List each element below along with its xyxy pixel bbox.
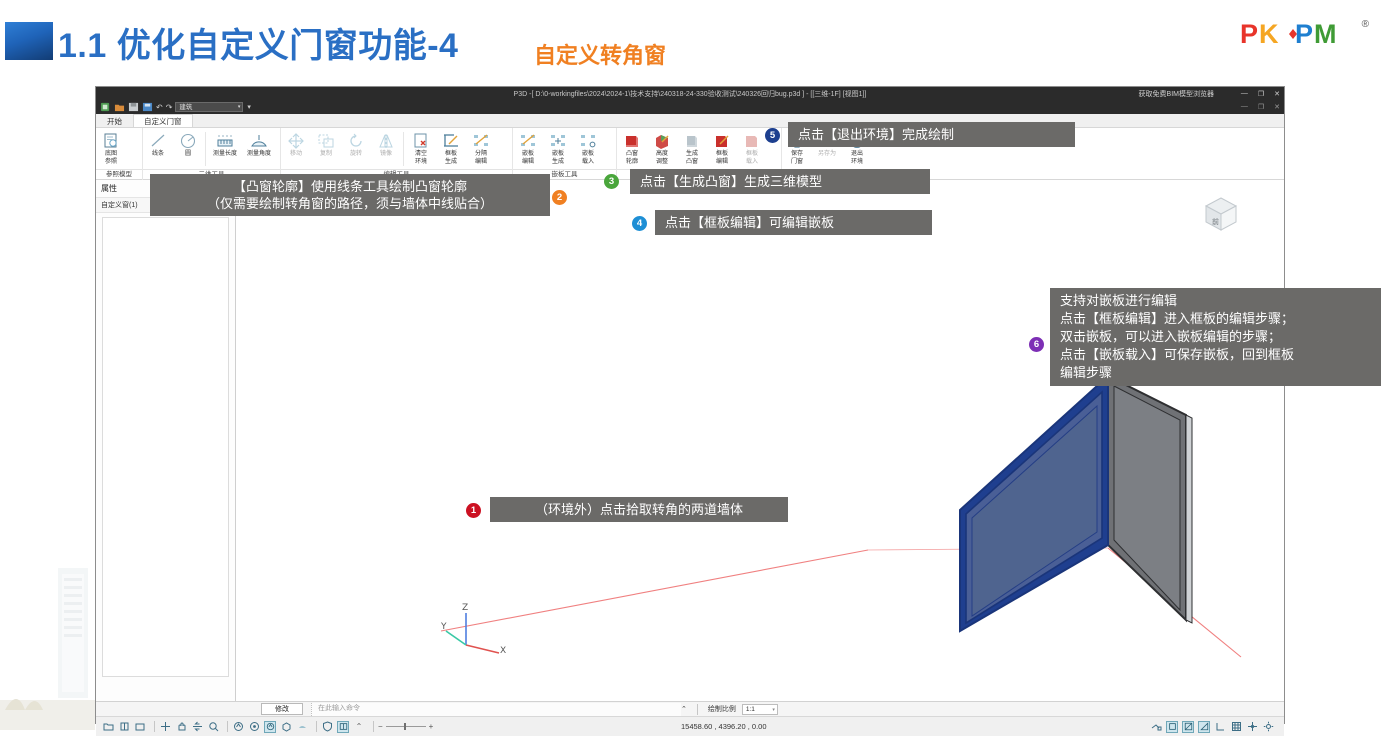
callout-badge-4: 4	[632, 216, 647, 231]
ribbon-group-edit-tools: 移动 复制	[280, 128, 512, 180]
page-subtitle: 自定义转角窗	[534, 38, 666, 70]
generate-bay-window-icon	[682, 131, 702, 150]
height-adjust-icon	[652, 131, 672, 150]
circle-icon	[178, 131, 198, 150]
ribbon-separator	[205, 132, 206, 166]
ribbon-separator	[403, 132, 404, 166]
main-area: 属性 自定义窗(1)	[96, 180, 1284, 701]
ribbon-label: 线条	[152, 151, 164, 159]
blue-selected-panel	[960, 376, 1108, 631]
ribbon-label: 另存为	[818, 151, 836, 159]
view-top-icon[interactable]	[232, 721, 244, 733]
command-bar-right: ⌃ 绘制比例 1:1 ▾	[681, 704, 778, 715]
ribbon-label: 框板 编辑	[716, 151, 728, 166]
divider	[154, 721, 155, 732]
ribbon-button-copy[interactable]: 复制	[311, 130, 341, 159]
view-cube[interactable]: 前	[1198, 192, 1244, 236]
frame-load-icon	[742, 131, 762, 150]
ribbon-button-divider-edit[interactable]: 分隔 编辑	[466, 130, 496, 166]
ribbon-group-reference-model: 底图 参照 参照模型	[96, 128, 142, 180]
view-front-icon[interactable]	[248, 721, 260, 733]
ribbon-button-measure-length[interactable]: 测量长度	[208, 130, 242, 159]
ribbon-label: 旋转	[350, 151, 362, 159]
svg-text:K: K	[1259, 19, 1279, 49]
properties-panel	[102, 217, 229, 677]
orbit-move-icon[interactable]	[191, 721, 203, 733]
copy-icon	[316, 131, 336, 150]
ribbon-label: 框板 载入	[746, 151, 758, 166]
callout-badge-1: 1	[466, 503, 481, 518]
ribbon-button-frame-generate[interactable]: 框板 生成	[436, 130, 466, 166]
title-accent-block	[5, 22, 53, 60]
status-bar: ⌃ − + 15458.60 , 4396.20 , 0.00	[96, 716, 1284, 736]
inner-window-controls: — ❐ ✕	[1241, 103, 1280, 111]
measure-angle-icon	[249, 131, 269, 150]
slide-header: 1.1 优化自定义门窗功能-4 自定义转角窗 P K P M ®	[0, 0, 1381, 82]
chevron-down-icon[interactable]: ▾	[772, 705, 775, 715]
ribbon-label: 底图 参照	[105, 151, 117, 166]
axis-label-z: Z	[462, 603, 468, 613]
ribbon-button-measure-angle[interactable]: 测量角度	[242, 130, 276, 159]
draw-scale-value: 1:1	[746, 706, 755, 713]
quick-access-toolbar: ↶ ↷ 建筑 ▾ ▾ — ❐ ✕	[96, 100, 1284, 114]
ribbon-label: 移动	[290, 151, 302, 159]
ribbon-button-panel-load[interactable]: 嵌板 载入	[573, 130, 603, 166]
zoom-icon[interactable]	[207, 721, 219, 733]
snap-icon[interactable]	[1150, 721, 1162, 733]
panel-edit-icon	[518, 131, 538, 150]
ribbon-label: 清空 环境	[415, 151, 427, 166]
draw-scale-label: 绘制比例	[708, 704, 736, 714]
inner-restore-icon[interactable]: ❐	[1258, 103, 1264, 111]
settings-icon[interactable]	[1262, 721, 1274, 733]
polar-icon[interactable]	[1182, 721, 1194, 733]
ribbon-button-panel-generate[interactable]: 嵌板 生成	[543, 130, 573, 166]
restore-icon[interactable]: ❐	[1258, 90, 1264, 98]
divider	[697, 704, 698, 715]
discipline-value: 建筑	[179, 104, 192, 111]
ribbon-label: 退出 环境	[851, 151, 863, 166]
ribbon-label: 嵌板 编辑	[522, 151, 534, 166]
view-box-icon[interactable]	[280, 721, 292, 733]
ribbon-label: 生成 凸窗	[686, 151, 698, 166]
underlay-reference-icon	[101, 131, 121, 150]
zoom-slider-track[interactable]	[386, 726, 426, 727]
measure-length-icon	[215, 131, 235, 150]
open-file-icon[interactable]	[114, 102, 125, 112]
command-bar: 修改 在此输入命令 ⌃ 绘制比例 1:1 ▾	[96, 701, 1284, 716]
ribbon-tab-strip: 开始 自定义门窗	[96, 114, 1284, 128]
tab-start[interactable]: 开始	[96, 114, 133, 127]
status-bar-right-icons	[1150, 721, 1278, 733]
svg-text:P: P	[1240, 19, 1258, 49]
ribbon-group-panel-tools: 嵌板 编辑 嵌板 生成	[512, 128, 616, 180]
axis-label-x: X	[500, 646, 506, 656]
ribbon-label: 测量角度	[247, 151, 271, 159]
render-icon[interactable]	[337, 721, 349, 733]
ribbon-label: 凸窗 轮廓	[626, 151, 638, 166]
page-title: 1.1 优化自定义门窗功能-4	[58, 18, 458, 67]
undo-icon[interactable]: ↶	[156, 103, 163, 112]
ribbon-button-circle[interactable]: 圆	[173, 130, 203, 159]
folder-icon[interactable]	[102, 721, 114, 733]
divider	[373, 721, 374, 732]
callout-text-2: 【凸窗轮廓】使用线条工具绘制凸窗轮廓 （仅需要绘制转角窗的路径，须与墙体中线贴合…	[150, 174, 550, 216]
ribbon-button-generate-bay-window[interactable]: 生成 凸窗	[677, 130, 707, 166]
up-arrow-icon[interactable]: ⌃	[353, 721, 365, 733]
ribbon-button-mirror[interactable]: 镜像	[371, 130, 401, 159]
ribbon-label: 嵌板 载入	[582, 151, 594, 166]
collapse-icon[interactable]: ⌃	[681, 705, 687, 713]
divider-edit-icon	[471, 131, 491, 150]
ribbon-label: 保存 门窗	[791, 151, 803, 166]
bim-browser-promo-link[interactable]: 获取免费BIM模型浏览器	[1139, 89, 1214, 99]
divider	[227, 721, 228, 732]
svg-text:P: P	[1295, 19, 1313, 49]
hand-pan-icon[interactable]	[175, 721, 187, 733]
properties-sidebar: 属性 自定义窗(1)	[96, 180, 236, 701]
ribbon-button-line[interactable]: 线条	[143, 130, 173, 159]
discipline-combobox[interactable]: 建筑 ▾	[175, 102, 243, 112]
rotate-icon	[346, 131, 366, 150]
inner-close-icon[interactable]: ✕	[1274, 103, 1280, 111]
3d-viewport[interactable]: 前 Z X Y	[236, 180, 1284, 701]
window-titlebar: P3D -[ D:\0-workingfiles\2024\2024-1\技术支…	[96, 87, 1284, 100]
shield-icon[interactable]	[321, 721, 333, 733]
save-file-icon[interactable]	[128, 102, 139, 112]
ribbon-label: 镜像	[380, 151, 392, 159]
model-drawing	[236, 180, 1284, 701]
panel-generate-icon	[548, 131, 568, 150]
ribbon-label: 框板 生成	[445, 151, 457, 166]
ortho-icon[interactable]	[1166, 721, 1178, 733]
view-iso-icon[interactable]	[264, 721, 276, 733]
ribbon-button-clear-environment[interactable]: 清空 环境	[406, 130, 436, 166]
ribbon-button-bay-window-outline[interactable]: 凸窗 轮廓	[617, 130, 647, 166]
ribbon-label: 高度 调整	[656, 151, 668, 166]
registered-trademark-symbol: ®	[1362, 19, 1369, 30]
layout-icon[interactable]	[134, 721, 146, 733]
clear-environment-icon	[411, 131, 431, 150]
ribbon-button-underlay-reference[interactable]: 底图 参照	[96, 130, 126, 166]
ribbon-button-frame-load[interactable]: 框板 载入	[737, 130, 767, 166]
inner-minimize-icon[interactable]: —	[1241, 103, 1248, 111]
callout-text-1: （环境外）点击拾取转角的两道墙体	[490, 497, 788, 522]
ribbon-label: 测量长度	[213, 151, 237, 159]
callout-badge-5: 5	[765, 128, 780, 143]
quick-access-more-icon[interactable]: ▾	[247, 103, 251, 111]
callout-badge-3: 3	[604, 174, 619, 189]
ribbon-label: 复制	[320, 151, 332, 159]
callout-text-4: 点击【框板编辑】可编辑嵌板	[655, 210, 932, 235]
bay-window-outline-icon	[622, 131, 642, 150]
svg-text:M: M	[1314, 19, 1337, 49]
zoom-slider-knob[interactable]	[404, 723, 406, 730]
save-as-file-icon[interactable]	[142, 102, 153, 112]
modify-button[interactable]: 修改	[261, 703, 303, 715]
tab-custom-door-window[interactable]: 自定义门窗	[133, 114, 193, 127]
ribbon-label: 圆	[185, 151, 191, 159]
divider	[316, 721, 317, 732]
otrack-icon[interactable]	[1198, 721, 1210, 733]
pkpm-logo: P K P M ®	[1240, 18, 1369, 48]
model-icon[interactable]	[118, 721, 130, 733]
redo-icon[interactable]: ↷	[166, 103, 173, 112]
callout-text-6: 支持对嵌板进行编辑 点击【框板编辑】进入框板的编辑步骤； 双击嵌板，可以进入嵌板…	[1050, 288, 1381, 386]
callout-text-3: 点击【生成凸窗】生成三维模型	[630, 169, 930, 194]
new-file-icon[interactable]	[100, 102, 111, 112]
command-input[interactable]: 在此输入命令	[311, 703, 681, 716]
grid-icon[interactable]	[1230, 721, 1242, 733]
ribbon-button-rotate[interactable]: 旋转	[341, 130, 371, 159]
pkpm-logo-mark: P K P M	[1240, 18, 1360, 50]
view-cube-face-label: 前	[1212, 217, 1219, 226]
frame-generate-icon	[441, 131, 461, 150]
dynamic-ucs-icon[interactable]	[1246, 721, 1258, 733]
lweight-icon[interactable]	[1214, 721, 1226, 733]
axis-label-y: Y	[441, 622, 447, 632]
draw-scale-combobox[interactable]: 1:1 ▾	[742, 704, 778, 715]
callout-badge-6: 6	[1029, 337, 1044, 352]
mirror-icon	[376, 131, 396, 150]
ribbon-label: 分隔 编辑	[475, 151, 487, 166]
axis-indicator: Z X Y	[441, 601, 511, 656]
ribbon-label: 嵌板 生成	[552, 151, 564, 166]
frame-edit-icon	[712, 131, 732, 150]
shade-icon[interactable]	[296, 721, 308, 733]
close-icon[interactable]: ✕	[1274, 90, 1280, 98]
panel-load-icon	[578, 131, 598, 150]
ribbon-button-move[interactable]: 移动	[281, 130, 311, 159]
line-icon	[148, 131, 168, 150]
chevron-down-icon[interactable]: ▾	[238, 103, 241, 112]
gray-panel	[1108, 376, 1192, 623]
ribbon-button-frame-edit[interactable]: 框板 编辑	[707, 130, 737, 166]
ribbon-group-2d-tools: 线条 圆	[142, 128, 280, 180]
ribbon-button-panel-edit[interactable]: 嵌板 编辑	[513, 130, 543, 166]
move-icon	[286, 131, 306, 150]
ribbon-group-label: 参照模型	[96, 169, 142, 180]
window-controls: — ❐ ✕	[1241, 90, 1280, 98]
pan-all-icon[interactable]	[159, 721, 171, 733]
callout-badge-2: 2	[552, 190, 567, 205]
callout-text-5: 点击【退出环境】完成绘制	[788, 122, 1075, 147]
minimize-icon[interactable]: —	[1241, 90, 1248, 98]
background-photo-decoration	[0, 550, 95, 730]
ribbon-button-height-adjust[interactable]: 高度 调整	[647, 130, 677, 166]
window-title: P3D -[ D:\0-workingfiles\2024\2024-1\技术支…	[96, 89, 1284, 99]
